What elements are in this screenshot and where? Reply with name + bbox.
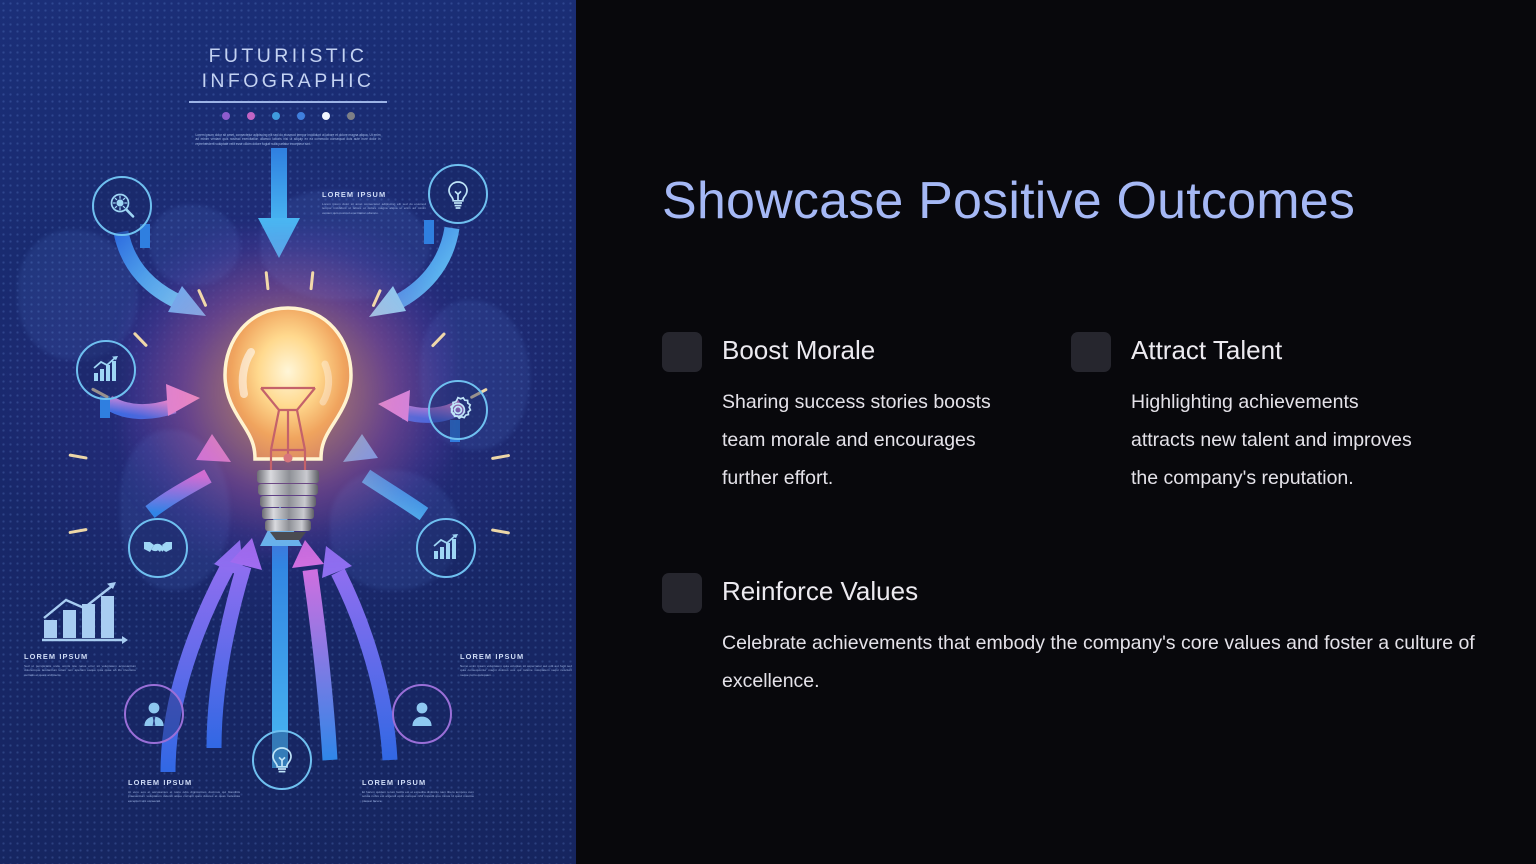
lorem-body: Lorem ipsum dolor sit amet consectetur a… (322, 202, 426, 215)
point-title: Attract Talent (1131, 330, 1282, 367)
lorem-body: At vero eos et accusamus et iusto odio d… (128, 790, 240, 803)
bar-chart-illustration (36, 582, 130, 653)
person-icon-node[interactable] (124, 684, 184, 744)
lightbulb-icon (444, 179, 472, 209)
bullet-square-icon (1071, 332, 1111, 372)
gear-icon-node[interactable] (428, 380, 488, 440)
point-header: Reinforce Values (662, 571, 1480, 613)
point-title: Reinforce Values (722, 571, 918, 608)
lorem-heading: LOREM IPSUM (128, 778, 240, 787)
bar-chart-growth-icon-node-2[interactable] (416, 518, 476, 578)
row-spacer (662, 497, 1480, 571)
lorem-label-bottom-center-right: LOREM IPSUM Et harum quidem rerum facili… (362, 778, 474, 803)
point-header: Attract Talent (1071, 330, 1424, 372)
slide: FUTURIISTIC INFOGRAPHIC Lorem ipsum dolo… (0, 0, 1536, 864)
bar-chart-growth-icon (431, 534, 461, 562)
handshake-icon-node[interactable] (128, 518, 188, 578)
magnifier-idea-icon-node[interactable] (92, 176, 152, 236)
content-panel: Showcase Positive Outcomes Boost Morale … (576, 0, 1536, 864)
lorem-label-top-right: LOREM IPSUM Lorem ipsum dolor sit amet c… (322, 190, 426, 215)
lorem-body: Sed ut perspiciatis unde omnis iste natu… (24, 664, 136, 677)
point-body: Sharing success stories boosts team mora… (722, 383, 1015, 497)
point-title: Boost Morale (722, 330, 875, 367)
point-item-reinforce-values: Reinforce Values Celebrate achievements … (662, 571, 1480, 700)
infographic-panel: FUTURIISTIC INFOGRAPHIC Lorem ipsum dolo… (0, 0, 576, 864)
lorem-heading: LOREM IPSUM (460, 652, 572, 661)
point-item-attract-talent: Attract Talent Highlighting achievements… (1071, 330, 1480, 497)
bullet-square-icon (662, 573, 702, 613)
point-body: Celebrate achievements that embody the c… (722, 624, 1480, 700)
lorem-heading: LOREM IPSUM (24, 652, 136, 661)
points-row-1: Boost Morale Sharing success stories boo… (662, 330, 1480, 497)
lorem-label-bottom-left: LOREM IPSUM Sed ut perspiciatis unde omn… (24, 652, 136, 677)
point-header: Boost Morale (662, 330, 1015, 372)
lorem-label-bottom-center-left: LOREM IPSUM At vero eos et accusamus et … (128, 778, 240, 803)
magnifier-idea-icon (107, 191, 137, 221)
lorem-heading: LOREM IPSUM (322, 190, 426, 199)
page-title: Showcase Positive Outcomes (662, 171, 1472, 231)
bar-chart-growth-icon (91, 356, 121, 384)
lorem-heading: LOREM IPSUM (362, 778, 474, 787)
person-icon (409, 700, 435, 728)
person-icon (141, 700, 167, 728)
bar-chart-growth-icon-node[interactable] (76, 340, 136, 400)
gear-icon (443, 395, 473, 425)
lorem-body: Et harum quidem rerum facilis est et exp… (362, 790, 474, 803)
lorem-label-bottom-right: LOREM IPSUM Nemo enim ipsam voluptatem q… (460, 652, 572, 677)
lightbulb-icon-node-2[interactable] (252, 730, 312, 790)
arrow-bottom-a (168, 540, 244, 772)
point-body: Highlighting achievements attracts new t… (1131, 383, 1424, 497)
points-row-2: Reinforce Values Celebrate achievements … (662, 571, 1480, 700)
person-icon-node-2[interactable] (392, 684, 452, 744)
central-lightbulb (213, 300, 363, 545)
lightbulb-icon-node[interactable] (428, 164, 488, 224)
point-item-boost-morale: Boost Morale Sharing success stories boo… (662, 330, 1071, 497)
lightbulb-icon (268, 745, 296, 775)
bullet-square-icon (662, 332, 702, 372)
handshake-icon (142, 537, 174, 559)
lorem-body: Nemo enim ipsam voluptatem quia voluptas… (460, 664, 572, 677)
points-list: Boost Morale Sharing success stories boo… (662, 330, 1480, 700)
bulb-screw-base (257, 470, 319, 540)
